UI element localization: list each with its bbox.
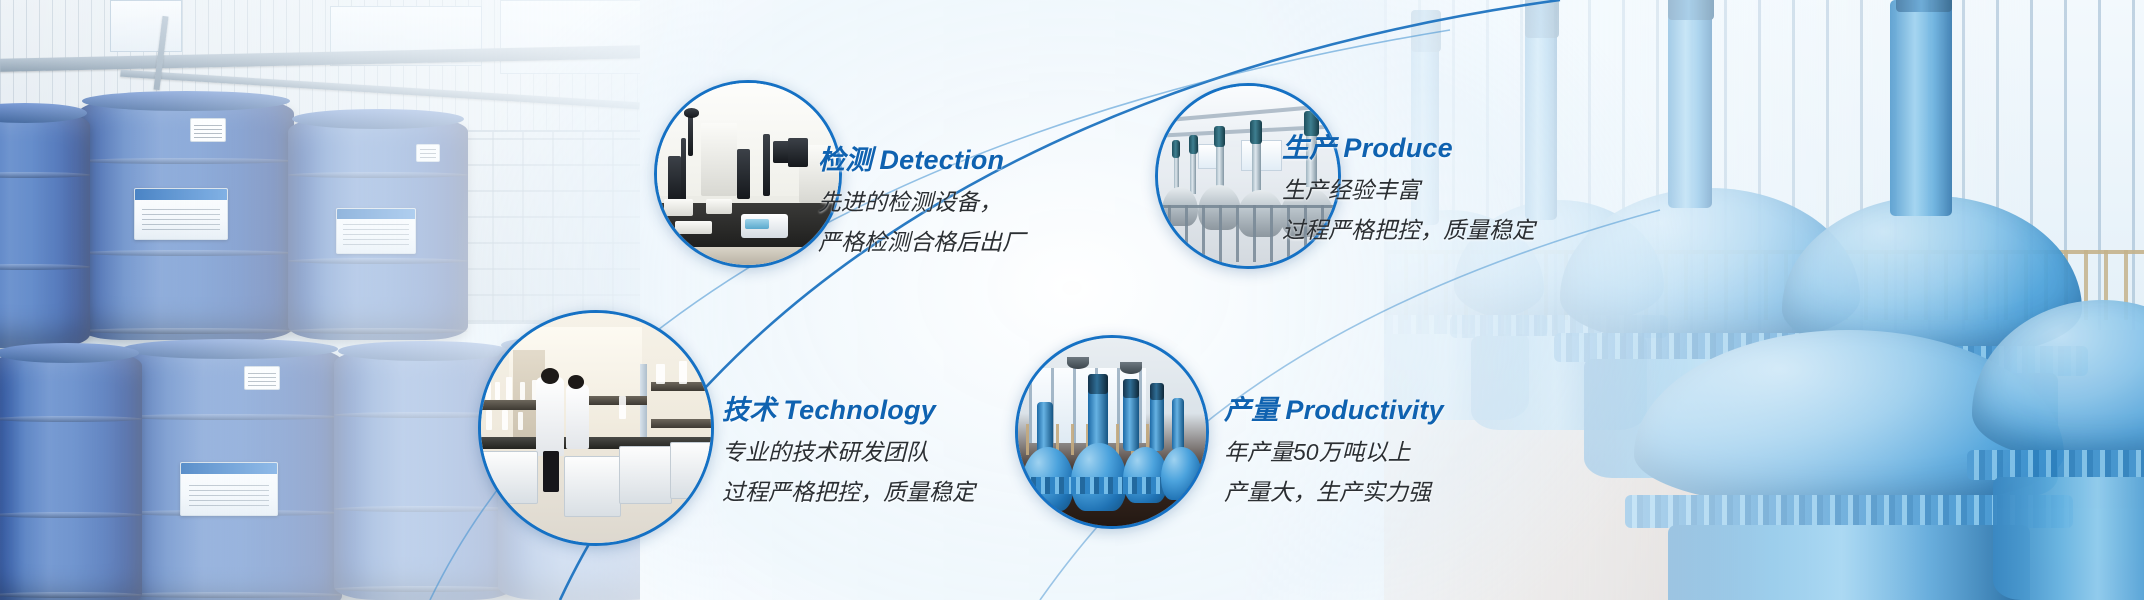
feature-heading-productivity: 产量Productivity (1224, 388, 1444, 427)
feature-line1: 专业的技术研发团队 (722, 433, 975, 467)
feature-line2: 过程严格把控，质量稳定 (722, 473, 975, 507)
capability-banner: 检测Detection 先进的检测设备， 严格检测合格后出厂 生产Produce… (0, 0, 2144, 600)
technology-lab-scene (481, 313, 711, 543)
heading-en: Technology (783, 395, 936, 425)
reactor-vessel (1972, 300, 2144, 600)
heading-cn: 技术 (722, 395, 776, 425)
heading-cn: 生产 (1282, 133, 1336, 163)
feature-line1: 年产量50万吨以上 (1224, 433, 1444, 467)
feature-text-productivity: 产量Productivity 年产量50万吨以上 产量大，生产实力强 (1224, 388, 1444, 507)
chemical-drum (0, 112, 90, 348)
photo-circle-productivity[interactable] (1015, 335, 1209, 529)
feature-text-produce: 生产Produce 生产经验丰富 过程严格把控，质量稳定 (1282, 126, 1535, 245)
wall-window (110, 0, 182, 52)
chemical-drum (78, 100, 294, 340)
feature-line1: 先进的检测设备， (818, 183, 1025, 217)
heading-en: Produce (1343, 133, 1452, 163)
ibc-tote (460, 130, 640, 324)
heading-cn: 产量 (1224, 395, 1278, 425)
feature-heading-technology: 技术Technology (722, 388, 975, 427)
feature-line2: 过程严格把控，质量稳定 (1282, 211, 1535, 245)
wall-window (500, 0, 640, 74)
feature-heading-detection: 检测Detection (818, 138, 1025, 177)
feature-line2: 产量大，生产实力强 (1224, 473, 1444, 507)
photo-circle-detection[interactable] (654, 80, 842, 268)
feature-text-technology: 技术Technology 专业的技术研发团队 过程严格把控，质量稳定 (722, 388, 975, 507)
feature-text-detection: 检测Detection 先进的检测设备， 严格检测合格后出厂 (818, 138, 1025, 257)
heading-en: Detection (879, 145, 1004, 175)
detection-lab-scene (657, 83, 839, 265)
right-background-photo-reactors (1384, 0, 2144, 600)
chemical-drum (118, 348, 342, 600)
heading-cn: 检测 (818, 145, 872, 175)
photo-circle-technology[interactable] (478, 310, 714, 546)
feature-line2: 严格检测合格后出厂 (818, 223, 1025, 257)
productivity-reactors-scene (1018, 338, 1206, 526)
heading-en: Productivity (1285, 395, 1443, 425)
chemical-drum (0, 352, 142, 600)
chemical-drum (288, 118, 468, 340)
feature-line1: 生产经验丰富 (1282, 171, 1535, 205)
feature-heading-produce: 生产Produce (1282, 126, 1535, 165)
